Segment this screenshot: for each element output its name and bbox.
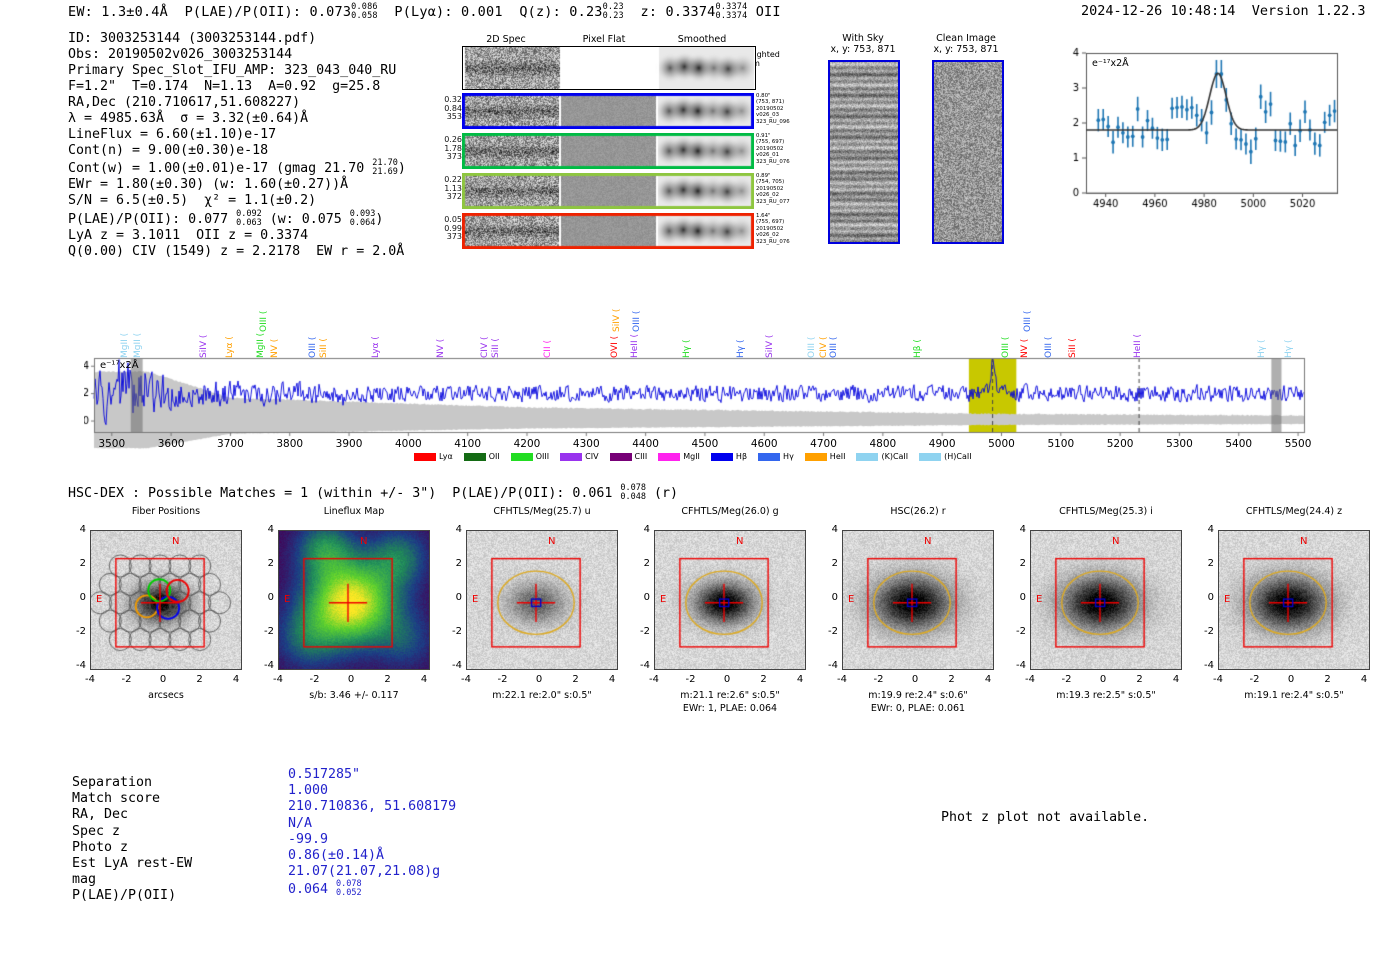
legend-item: CIV [560, 452, 598, 461]
cutout-caption: m:19.1 re:2.4" s:0.5" [1188, 690, 1400, 703]
compass-n: N [1112, 536, 1119, 547]
emission-plot-units: e⁻¹⁷x2Å [1092, 58, 1129, 69]
spec2d-title-2dspec: 2D Spec [460, 34, 552, 45]
spectrum-xtick: 5200 [1102, 438, 1138, 450]
cutout-panel-1[interactable]: Lineflux MapNE420-2-4-4-2024s/b: 3.46 +/… [248, 506, 460, 721]
cutout-xtick: 4 [1353, 674, 1375, 685]
cutout-image[interactable] [278, 530, 430, 670]
cutout-xtick: -4 [1207, 674, 1229, 685]
full-spectrum-panel: MgII (MgII (SiIV (Lyα (OIII (MgII (NV (O… [84, 274, 1310, 470]
legend-label: Hγ [783, 452, 794, 461]
spec2d-row-label-0: 0.32 0.84 353 [424, 96, 462, 122]
cutout-panel-4[interactable]: HSC(26.2) rNE420-2-4-4-2024m:19.9 re:2.4… [812, 506, 1024, 721]
cutout-xtick: 0 [528, 674, 550, 685]
with-sky-coords: x, y: 753, 871 [818, 44, 908, 55]
cutout-ytick: -4 [444, 660, 462, 671]
legend-item: Hγ [758, 452, 794, 461]
cutout-xtick: 4 [789, 674, 811, 685]
spectrum-xtick: 4800 [865, 438, 901, 450]
cutout-title: HSC(26.2) r [812, 506, 1024, 517]
cutout-xtick: 4 [225, 674, 247, 685]
cutout-title: CFHTLS/Meg(26.0) g [624, 506, 836, 517]
spectrum-xtick: 4100 [450, 438, 486, 450]
cutout-xtick: 2 [189, 674, 211, 685]
spectrum-xtick: 5400 [1221, 438, 1257, 450]
legend-label: Lyα [439, 452, 453, 461]
cutout-xtick: -2 [868, 674, 890, 685]
legend-item: CIII [610, 452, 648, 461]
header-qz-bounds: 0.230.23 [603, 3, 624, 21]
cutout-xtick: 0 [152, 674, 174, 685]
spectrum-xtick: 4700 [806, 438, 842, 450]
spec2d-row-info-3: 1.64" (755, 697) 20190502 v026_02 323_RU… [756, 213, 790, 245]
value-plae-poii: 0.064 0.0780.052 [288, 880, 456, 898]
legend-label: OII [489, 452, 500, 461]
cutout-xtick: 2 [941, 674, 963, 685]
cutout-image[interactable] [90, 530, 242, 670]
spec2d-row-label-1: 0.26 1.78 373 [424, 136, 462, 162]
legend-swatch [560, 453, 582, 461]
label-separation: Separation [72, 775, 192, 791]
legend-item: Hβ [711, 452, 747, 461]
header-ew: EW: 1.3±0.4Å [68, 4, 168, 20]
cutout-ytick: 2 [1008, 558, 1026, 569]
spectrum-xtick: 4900 [924, 438, 960, 450]
cutout-xtick: 0 [1092, 674, 1114, 685]
cutout-xtick: -4 [1019, 674, 1041, 685]
info-wavelength: λ = 4985.63Å σ = 3.32(±0.64)Å [68, 111, 406, 127]
legend-item: (K)CaII [856, 452, 908, 461]
cutout-caption: arcsecs [60, 690, 272, 703]
legend-label: OIII [536, 452, 549, 461]
cutout-ytick: 0 [1008, 592, 1026, 603]
info-lineflux: LineFlux = 6.60(±1.10)e-17 [68, 127, 406, 143]
cutout-title: CFHTLS/Meg(24.4) z [1188, 506, 1400, 517]
cutout-xtick: 4 [1165, 674, 1187, 685]
cutout-xtick: -2 [116, 674, 138, 685]
legend-label: CIV [585, 452, 598, 461]
cutout-title: CFHTLS/Meg(25.7) u [436, 506, 648, 517]
spectrum-xtick: 4300 [568, 438, 604, 450]
cutout-panel-2[interactable]: CFHTLS/Meg(25.7) uNE420-2-4-4-2024m:22.1… [436, 506, 648, 721]
value-mag: 21.07(21.07,21.08)g [288, 864, 456, 880]
spectrum-xtick: 3700 [212, 438, 248, 450]
cutout-xtick: 2 [565, 674, 587, 685]
cutout-ytick: -2 [632, 626, 650, 637]
label-est-lya-rest-ew: Est LyA rest-EW [72, 856, 192, 872]
cutout-title: Fiber Positions [60, 506, 272, 517]
cutout-xtick: 2 [753, 674, 775, 685]
legend-swatch [414, 453, 436, 461]
compass-e: E [848, 594, 854, 605]
cutout-image[interactable] [842, 530, 994, 670]
legend-item: MgII [658, 452, 700, 461]
spectrum-xtick: 4000 [390, 438, 426, 450]
info-plae: P(LAE)/P(OII): 0.077 0.0920.063 (w: 0.07… [68, 210, 406, 228]
cutout-xtick: -2 [492, 674, 514, 685]
spec2d-title-smoothed: Smoothed [656, 34, 748, 45]
cutout-caption: s/b: 3.46 +/- 0.117 [248, 690, 460, 703]
cutout-ytick: -2 [1008, 626, 1026, 637]
spectrum-xtick: 5000 [984, 438, 1020, 450]
cutout-xtick: -2 [1244, 674, 1266, 685]
compass-n: N [172, 536, 179, 547]
cutout-title: CFHTLS/Meg(25.3) i [1000, 506, 1212, 517]
spec2d-row-info-1: 0.91" (755, 697) 20190502 v026_01 323_RU… [756, 133, 790, 165]
legend-item: OII [464, 452, 500, 461]
label-plae-poii: P(LAE)/P(OII) [72, 888, 192, 904]
cutout-ytick: -4 [256, 660, 274, 671]
cutout-ytick: -2 [1196, 626, 1214, 637]
legend-item: Lyα [414, 452, 453, 461]
cutout-xtick: -2 [680, 674, 702, 685]
cutout-ytick: 0 [1196, 592, 1214, 603]
value-spec-z: N/A [288, 816, 456, 832]
info-ewr: EWr = 1.80(±0.30) (w: 1.60(±0.27))Å [68, 177, 406, 193]
cutout-ytick: 4 [1008, 524, 1026, 535]
cutout-ytick: 2 [1196, 558, 1214, 569]
cutout-caption: m:22.1 re:2.0" s:0.5" [436, 690, 648, 703]
legend-swatch [610, 453, 632, 461]
cutout-ytick: -4 [632, 660, 650, 671]
clean-image-panel: Clean Image x, y: 753, 871 [918, 33, 1014, 55]
compass-n: N [1300, 536, 1307, 547]
value-photo-z: -99.9 [288, 832, 456, 848]
version: Version 1.22.3 [1252, 3, 1366, 19]
compass-e: E [96, 594, 102, 605]
cutout-xtick: -2 [1056, 674, 1078, 685]
cutout-image[interactable] [466, 530, 618, 670]
legend-swatch [919, 453, 941, 461]
spectrum-xtick: 3600 [153, 438, 189, 450]
cutout-ytick: -4 [1008, 660, 1026, 671]
cutout-ytick: 4 [256, 524, 274, 535]
legend-swatch [758, 453, 780, 461]
cutout-ytick: 4 [444, 524, 462, 535]
cutout-ytick: 4 [632, 524, 650, 535]
cutout-ytick: 0 [820, 592, 838, 603]
cutout-xtick: -4 [831, 674, 853, 685]
cutout-xtick: 0 [716, 674, 738, 685]
info-obs: Obs: 20190502v026_3003253144 [68, 47, 406, 63]
legend-label: (H)CaII [944, 452, 971, 461]
clean-image [932, 60, 1004, 244]
photz-note: Phot z plot not available. [941, 810, 1149, 825]
legend-label: MgII [683, 452, 700, 461]
label-radec: RA, Dec [72, 807, 192, 823]
spectrum-xtick: 4500 [687, 438, 723, 450]
spectrum-xtick: 5100 [1043, 438, 1079, 450]
cutout-ytick: -4 [820, 660, 838, 671]
cutout-image[interactable] [654, 530, 806, 670]
cutout-ytick: 0 [256, 592, 274, 603]
cutout-xtick: 0 [340, 674, 362, 685]
spec2d-weighted-sum-strip [462, 46, 756, 90]
header-z-type: OII [756, 4, 781, 20]
value-est-lya-rest-ew: 0.86(±0.14)Å [288, 848, 456, 864]
legend-swatch [464, 453, 486, 461]
cutout-image[interactable] [1030, 530, 1182, 670]
spec2d-row-info-2: 0.89" (754, 705) 20190502 v026_02 323_RU… [756, 173, 790, 205]
cutout-ytick: 0 [68, 592, 86, 603]
info-id: ID: 3003253144 (3003253144.pdf) [68, 31, 406, 47]
cutout-ytick: 2 [68, 558, 86, 569]
info-primary-spec: Primary Spec_Slot_IFU_AMP: 323_043_040_R… [68, 63, 406, 79]
compass-e: E [660, 594, 666, 605]
header-plae-bounds: 0.0860.058 [351, 3, 378, 21]
spectrum-units: e⁻¹⁷x2Å [100, 360, 139, 371]
cutout-panel-6[interactable]: CFHTLS/Meg(24.4) zNE420-2-4-4-2024m:19.1… [1188, 506, 1400, 721]
spec2d-row-info-0: 0.80" (753, 871) 20190502 v026_03 323_RU… [756, 93, 790, 125]
cutout-xtick: -4 [267, 674, 289, 685]
cutout-ytick: 4 [68, 524, 86, 535]
cutout-panel-5[interactable]: CFHTLS/Meg(25.3) iNE420-2-4-4-2024m:19.3… [1000, 506, 1212, 721]
label-photo-z: Photo z [72, 840, 192, 856]
legend-swatch [805, 453, 827, 461]
cutout-title: Lineflux Map [248, 506, 460, 517]
compass-e: E [1224, 594, 1230, 605]
cutout-xtick: 4 [977, 674, 999, 685]
compass-n: N [548, 536, 555, 547]
object-info-block: ID: 3003253144 (3003253144.pdf) Obs: 201… [68, 31, 406, 260]
cutout-xtick: -4 [643, 674, 665, 685]
info-seeing: F=1.2" T=0.174 N=1.13 A=0.92 g=25.8 [68, 79, 406, 95]
cutout-ytick: 2 [820, 558, 838, 569]
cutout-panel-3[interactable]: CFHTLS/Meg(26.0) gNE420-2-4-4-2024m:21.1… [624, 506, 836, 721]
compass-n: N [360, 536, 367, 547]
cutout-ytick: -2 [256, 626, 274, 637]
with-sky-image [828, 60, 900, 244]
info-redshifts: LyA z = 3.1011 OII z = 0.3374 [68, 228, 406, 244]
cutout-xtick: 2 [1317, 674, 1339, 685]
legend-swatch [658, 453, 680, 461]
legend-label: (K)CaII [881, 452, 908, 461]
cutout-ytick: -4 [1196, 660, 1214, 671]
with-sky-title: With Sky [818, 33, 908, 44]
header-summary: EW: 1.3±0.4Å P(LAE)/P(OII): 0.0730.0860.… [68, 3, 781, 21]
legend-label: CIII [635, 452, 648, 461]
spec2d-row-strip-2 [462, 173, 754, 209]
label-spec-z: Spec z [72, 824, 192, 840]
match-detail-values: 0.517285" 1.000 210.710836, 51.608179 N/… [288, 767, 456, 899]
cutout-caption: m:19.9 re:2.4" s:0.6" EWr: 0, PLAE: 0.06… [812, 690, 1024, 715]
label-match-score: Match score [72, 791, 192, 807]
value-radec: 210.710836, 51.608179 [288, 799, 456, 815]
info-cont-w: Cont(w) = 1.00(±0.01)e-17 (gmag 21.70 21… [68, 159, 406, 177]
spectrum-xtick: 4600 [746, 438, 782, 450]
cutout-xtick: 0 [904, 674, 926, 685]
cutout-xtick: -2 [304, 674, 326, 685]
spec2d-row-strip-0 [462, 93, 754, 129]
cutout-xtick: -4 [79, 674, 101, 685]
legend-swatch [711, 453, 733, 461]
spectrum-xtick: 3500 [94, 438, 130, 450]
hsc-dex-matches-line: HSC-DEX : Possible Matches = 1 (within +… [68, 484, 678, 502]
cutout-xtick: 0 [1280, 674, 1302, 685]
compass-n: N [736, 536, 743, 547]
legend-label: Hβ [736, 452, 747, 461]
compass-e: E [472, 594, 478, 605]
spectrum-xtick: 4200 [509, 438, 545, 450]
emission-line-plot: e⁻¹⁷x2Å [1040, 47, 1340, 225]
cutout-ytick: 0 [632, 592, 650, 603]
info-quality: Q(0.00) CIV (1549) z = 2.2178 EW r = 2.0… [68, 244, 406, 260]
header-z-bounds: 0.33740.3374 [716, 3, 748, 21]
match-detail-labels: Separation Match score RA, Dec Spec z Ph… [72, 775, 192, 905]
legend-item: HeII [805, 452, 846, 461]
cutout-ytick: 2 [444, 558, 462, 569]
with-sky-panel: With Sky x, y: 753, 871 [818, 33, 908, 55]
spectrum-xtick: 5300 [1161, 438, 1197, 450]
header-plae: P(LAE)/P(OII): 0.073 [185, 4, 352, 20]
cutout-caption: m:21.1 re:2.6" s:0.5" EWr: 1, PLAE: 0.06… [624, 690, 836, 715]
spectrum-xtick: 3800 [272, 438, 308, 450]
legend-label: HeII [830, 452, 846, 461]
cutout-ytick: 4 [820, 524, 838, 535]
info-cont-n: Cont(n) = 9.00(±0.30)e-18 [68, 143, 406, 159]
cutout-xtick: -4 [455, 674, 477, 685]
legend-item: (H)CaII [919, 452, 971, 461]
header-plya: P(Lyα): 0.001 [394, 4, 502, 20]
header-timestamp-version: 2024-12-26 10:48:14 Version 1.22.3 [1081, 3, 1366, 19]
spectrum-legend: LyαOIIOIIICIVCIIIMgIIHβHγHeII(K)CaII(H)C… [414, 452, 972, 461]
spec2d-row-strip-3 [462, 213, 754, 249]
header-qz: Q(z): 0.23 [519, 4, 602, 20]
spec2d-row-strip-1 [462, 133, 754, 169]
cutout-ytick: 0 [444, 592, 462, 603]
cutout-xtick: 4 [601, 674, 623, 685]
spec2d-title-pixelflat: Pixel Flat [558, 34, 650, 45]
spectrum-xtick: 4400 [628, 438, 664, 450]
cutout-xtick: 2 [1129, 674, 1151, 685]
matches-tail: (r) [654, 486, 678, 501]
cutout-ytick: -2 [444, 626, 462, 637]
label-mag: mag [72, 872, 192, 888]
info-radec: RA,Dec (210.710617,51.608227) [68, 95, 406, 111]
spec2d-row-label-2: 0.22 1.13 372 [424, 176, 462, 202]
cutout-ytick: 2 [256, 558, 274, 569]
cutout-ytick: 2 [632, 558, 650, 569]
matches-bounds: 0.0780.048 [620, 484, 646, 502]
info-snr: S/N = 6.5(±0.5) χ² = 1.1(±0.2) [68, 193, 406, 209]
spec2d-row-label-3: 0.05 0.99 373 [424, 216, 462, 242]
value-match-score: 1.000 [288, 783, 456, 799]
cutout-caption: m:19.3 re:2.5" s:0.5" [1000, 690, 1212, 703]
cutout-xtick: 4 [413, 674, 435, 685]
cutout-ytick: -4 [68, 660, 86, 671]
matches-text: HSC-DEX : Possible Matches = 1 (within +… [68, 486, 612, 501]
cutout-xtick: 2 [377, 674, 399, 685]
value-separation: 0.517285" [288, 767, 456, 783]
cutout-ytick: -2 [68, 626, 86, 637]
cutout-image[interactable] [1218, 530, 1370, 670]
timestamp: 2024-12-26 10:48:14 [1081, 3, 1235, 19]
cutout-panel-0[interactable]: Fiber PositionsNE420-2-4-4-2024arcsecs [60, 506, 272, 721]
clean-image-coords: x, y: 753, 871 [918, 44, 1014, 55]
legend-item: OIII [511, 452, 549, 461]
spectrum-xtick: 3900 [331, 438, 367, 450]
compass-n: N [924, 536, 931, 547]
compass-e: E [1036, 594, 1042, 605]
cutout-ytick: -2 [820, 626, 838, 637]
clean-image-title: Clean Image [918, 33, 1014, 44]
header-z: z: 0.3374 [641, 4, 716, 20]
legend-swatch [856, 453, 878, 461]
spectrum-xtick: 5500 [1280, 438, 1316, 450]
compass-e: E [284, 594, 290, 605]
cutout-ytick: 4 [1196, 524, 1214, 535]
legend-swatch [511, 453, 533, 461]
